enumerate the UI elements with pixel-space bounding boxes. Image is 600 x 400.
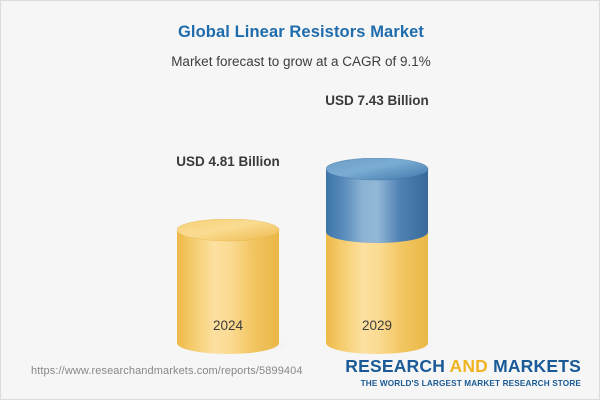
cylinder-2024-shape: [177, 219, 289, 355]
category-label-2029: 2029: [297, 318, 457, 333]
report-url[interactable]: https://www.researchandmarkets.com/repor…: [31, 365, 303, 377]
logo-wordmark: RESEARCH AND MARKETS: [345, 358, 581, 376]
logo-word-and: AND: [449, 356, 488, 376]
chart-canvas: Global Linear Resistors Market Market fo…: [0, 0, 600, 400]
logo-tagline: THE WORLD'S LARGEST MARKET RESEARCH STOR…: [345, 380, 581, 388]
category-label-2024: 2024: [148, 318, 308, 333]
value-label-2024: USD 4.81 Billion: [118, 154, 338, 169]
logo-word-markets: MARKETS: [493, 356, 581, 376]
value-label-2029: USD 7.43 Billion: [267, 93, 487, 108]
research-and-markets-logo[interactable]: RESEARCH AND MARKETS THE WORLD'S LARGEST…: [345, 358, 581, 388]
plot-area: USD 4.81 Billion: [1, 1, 600, 349]
logo-word-research: RESEARCH: [345, 356, 445, 376]
